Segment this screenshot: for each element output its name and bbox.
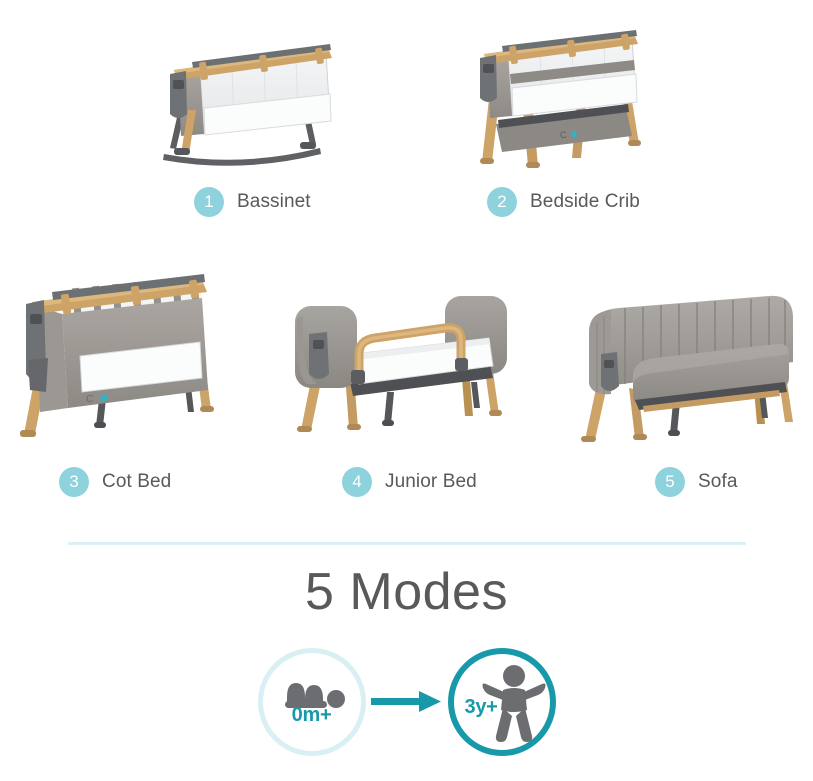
age-badge-start: 0m+ (258, 648, 366, 756)
mode-card-bassinet[interactable] (140, 22, 345, 182)
mode-label-cot-bed: 3 Cot Bed (59, 467, 171, 497)
page-title: 5 Modes (0, 562, 813, 622)
right-arrow-icon (369, 685, 445, 719)
mode-number-badge: 4 (342, 467, 372, 497)
mode-label-text: Bedside Crib (530, 191, 640, 213)
age-range-row: 0m+ 3y+ (0, 648, 813, 756)
junior-bed-illustration (283, 278, 513, 446)
mode-number-badge: 1 (194, 187, 224, 217)
bassinet-illustration (140, 22, 345, 182)
cot-bed-illustration: C (2, 262, 227, 447)
svg-text:C: C (86, 394, 93, 405)
mode-number-badge: 2 (487, 187, 517, 217)
section-divider (68, 542, 746, 545)
mode-card-cot-bed[interactable]: C (2, 262, 227, 447)
bedside-crib-illustration: C (452, 16, 652, 182)
mode-card-bedside-crib[interactable]: C (452, 16, 652, 182)
lying-baby-icon (263, 653, 361, 751)
mode-card-junior-bed[interactable] (283, 278, 513, 446)
age-badge-end: 3y+ (448, 648, 556, 756)
svg-text:C: C (560, 130, 567, 140)
sofa-illustration (563, 288, 798, 446)
age-end-caption: 3y+ (465, 696, 498, 719)
mode-card-sofa[interactable] (563, 288, 798, 446)
age-start-caption: 0m+ (263, 704, 361, 727)
mode-number-badge: 5 (655, 467, 685, 497)
mode-label-text: Sofa (698, 471, 738, 493)
mode-label-text: Cot Bed (102, 471, 171, 493)
mode-label-text: Junior Bed (385, 471, 477, 493)
mode-label-text: Bassinet (237, 191, 311, 213)
mode-label-bedside-crib: 2 Bedside Crib (487, 187, 640, 217)
mode-label-bassinet: 1 Bassinet (194, 187, 311, 217)
mode-label-junior-bed: 4 Junior Bed (342, 467, 477, 497)
mode-label-sofa: 5 Sofa (655, 467, 738, 497)
mode-number-badge: 3 (59, 467, 89, 497)
